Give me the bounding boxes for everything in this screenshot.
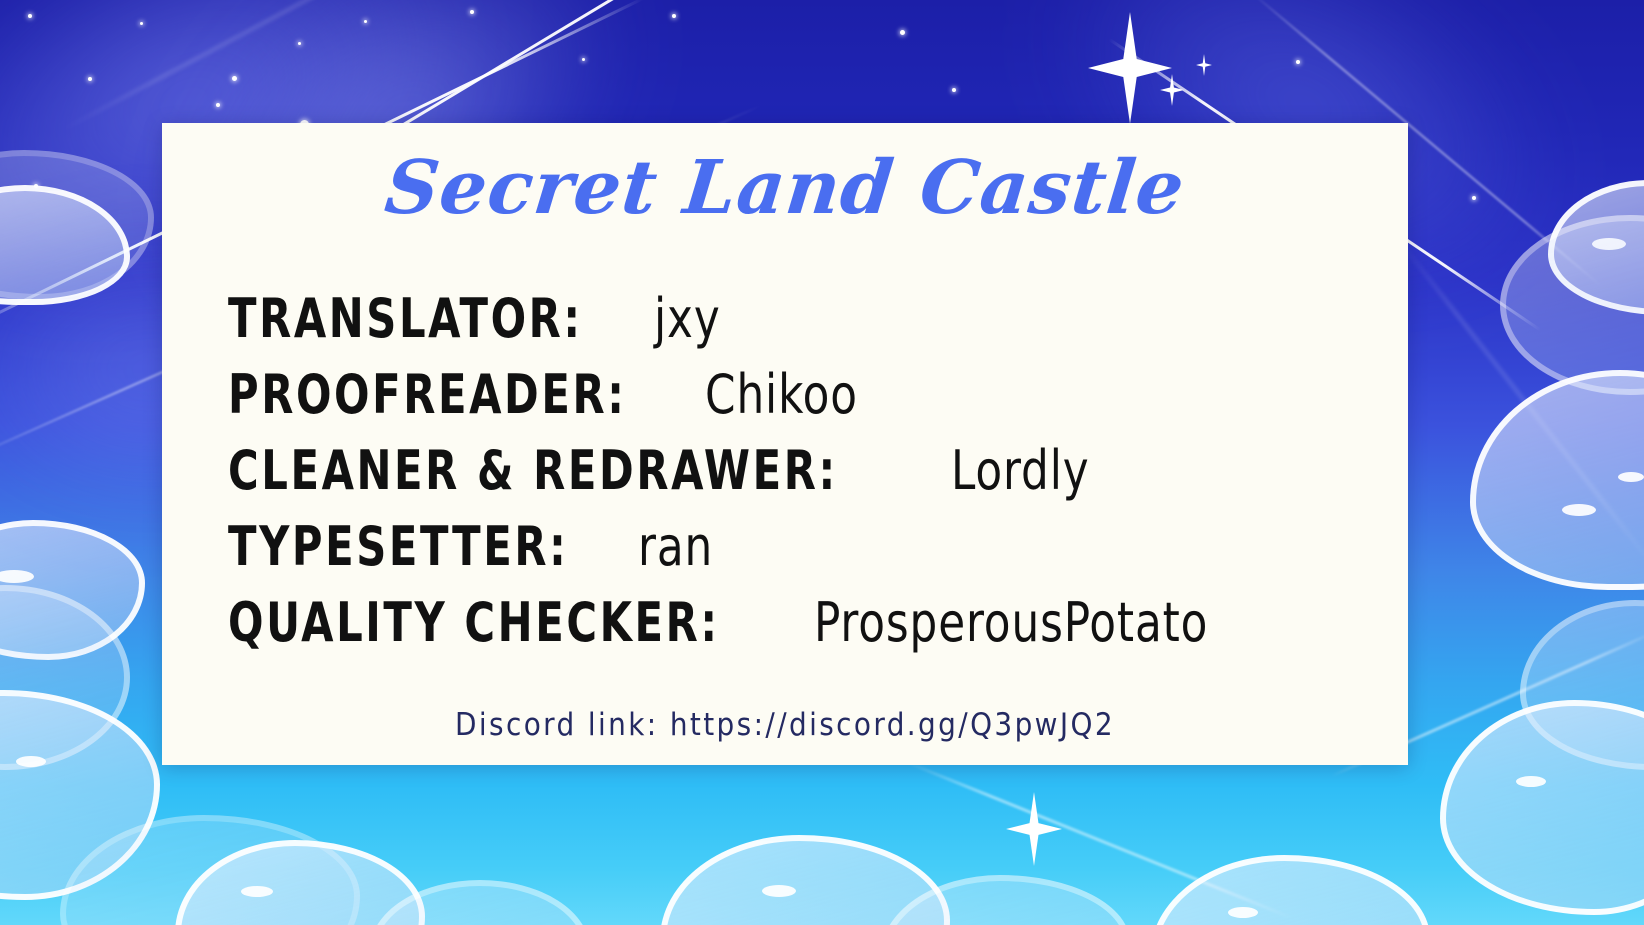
cloud-shape [0,520,145,660]
light-streak-7 [1398,240,1644,572]
cloud-shape [0,150,154,300]
credit-name-value: Chikoo [705,357,858,433]
star-dot [28,14,32,18]
cloud-shape [0,185,130,305]
credit-row-proofreader: PROOFREADER: Chikoo [228,357,1348,433]
credit-role-label: TYPESETTER: [228,509,568,585]
credit-role-label: TRANSLATOR: [228,281,583,357]
credit-role-label: CLEANER & REDRAWER: [228,433,838,509]
star-dot [1472,196,1476,200]
star-dot [900,30,905,35]
credit-row-typesetter: TYPESETTER: ran [228,509,1348,585]
credit-name-value: ran [638,509,713,585]
page-title: Secret Land Castle [157,145,1412,231]
credit-row-quality-checker: QUALITY CHECKER: ProsperousPotato [228,585,1348,661]
sparkle-star-icon-bottom [1006,792,1062,866]
star-dot [88,77,92,81]
cloud-shape [660,835,950,925]
star-dot [1296,60,1300,64]
cloud-shape [1440,700,1644,915]
discord-link[interactable]: Discord link: https://discord.gg/Q3pwJQ2 [162,707,1408,743]
star-dot [582,58,585,61]
cloud-shape [880,875,1130,925]
credit-name-value: Lordly [951,433,1090,509]
credit-name-value: jxy [654,281,721,357]
credit-name-value: ProsperousPotato [814,585,1208,661]
credit-role-label: QUALITY CHECKER: [228,585,720,661]
sparkle-star-icon-tiny [1196,54,1212,76]
cloud-shape [370,880,590,925]
cloud-shape [175,840,425,925]
credits-page-canvas: Secret Land Castle TRANSLATOR: jxy PROOF… [0,0,1644,925]
light-streak-8 [904,760,1294,920]
cloud-shape [0,585,130,770]
star-dot [672,14,676,18]
star-dot [470,10,474,14]
cloud-shape [60,815,360,925]
cloud-shape [1150,855,1430,925]
sparkle-star-icon-large [1088,12,1172,124]
star-dot [364,20,367,23]
star-dot [232,76,237,81]
star-dot [952,88,956,92]
cloud-shape [1520,600,1644,770]
credits-card: Secret Land Castle TRANSLATOR: jxy PROOF… [162,123,1408,765]
star-dot [140,22,143,25]
credit-role-label: PROOFREADER: [228,357,627,433]
credit-row-translator: TRANSLATOR: jxy [228,281,1348,357]
credit-row-cleaner-redrawer: CLEANER & REDRAWER: Lordly [228,433,1348,509]
cloud-shape [0,690,160,900]
cloud-shape [1548,180,1644,315]
light-streak-4 [60,0,520,132]
cloud-shape [1500,215,1644,395]
sparkle-star-icon-small [1160,74,1184,106]
star-dot [34,184,38,188]
cloud-shape [1470,370,1644,590]
credits-list: TRANSLATOR: jxy PROOFREADER: Chikoo CLEA… [228,281,1348,661]
star-dot [298,42,301,45]
star-dot [216,103,220,107]
